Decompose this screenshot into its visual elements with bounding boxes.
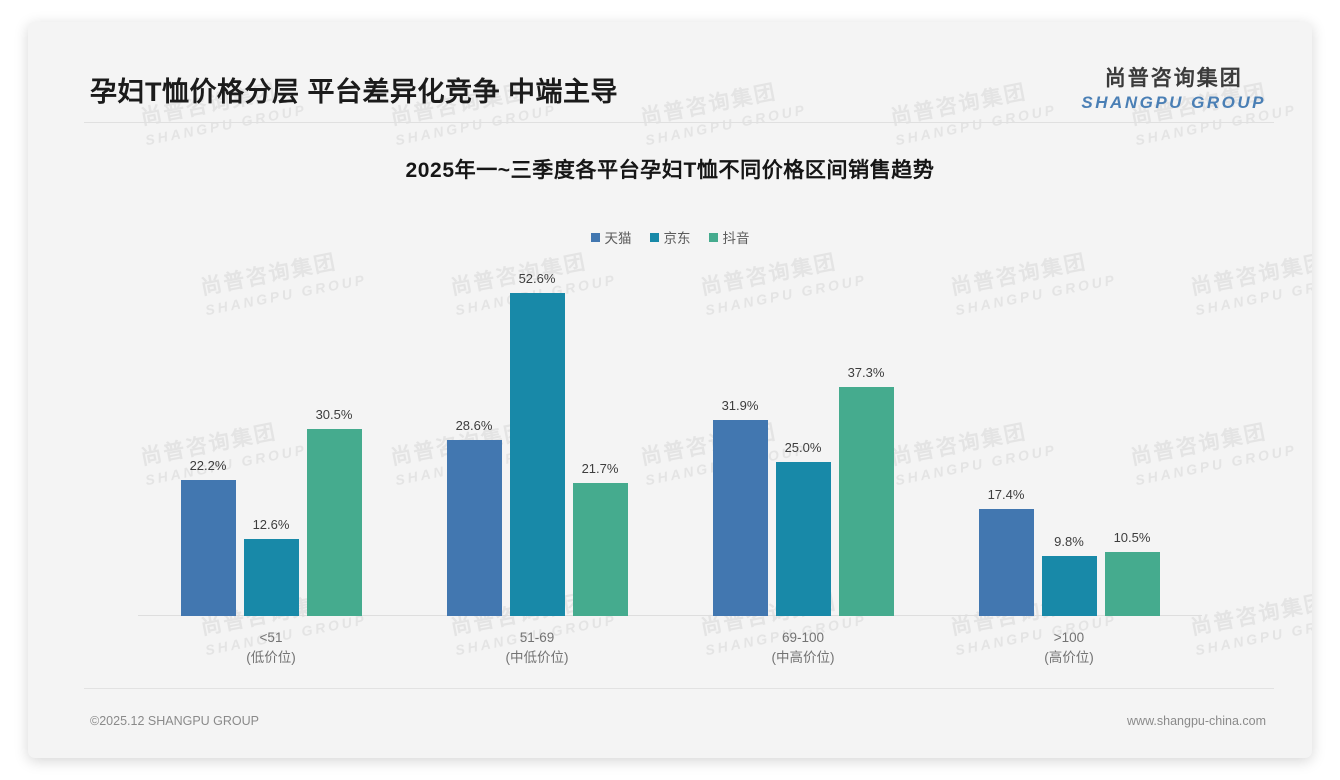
bar-value-label: 10.5% [1114, 530, 1151, 545]
bar-value-label: 52.6% [519, 271, 556, 286]
bar[interactable] [1105, 552, 1160, 617]
x-axis-category-sublabel: (高价位) [1044, 648, 1094, 668]
footer-website: www.shangpu-china.com [1127, 714, 1266, 728]
x-axis-category-label: 69-100(中高价位) [772, 628, 835, 667]
bar-column[interactable]: 21.7% [573, 272, 628, 616]
bar[interactable] [776, 462, 831, 616]
x-axis-category-name: 69-100 [772, 628, 835, 648]
legend-item-1[interactable]: 京东 [650, 227, 691, 247]
bar[interactable] [1042, 556, 1097, 616]
header-divider [84, 122, 1274, 123]
chart-legend: 天猫京东抖音 [28, 227, 1312, 247]
brand-logo-cn: 尚普咨询集团 [1081, 62, 1266, 92]
x-axis-category-sublabel: (中高价位) [772, 648, 835, 668]
bar-value-label: 37.3% [848, 365, 885, 380]
bar-value-label: 25.0% [785, 440, 822, 455]
bar-column[interactable]: 22.2% [181, 272, 236, 616]
slide-card: 尚普咨询集团SHANGPU GROUP尚普咨询集团SHANGPU GROUP尚普… [28, 22, 1312, 758]
bar-value-label: 31.9% [722, 398, 759, 413]
bar-column[interactable]: 30.5% [307, 272, 362, 616]
x-axis-category-label: <51(低价位) [246, 628, 296, 667]
bar-value-label: 12.6% [253, 517, 290, 532]
bar-value-label: 21.7% [582, 461, 619, 476]
x-axis-category-label: >100(高价位) [1044, 628, 1094, 667]
legend-item-2[interactable]: 抖音 [709, 227, 750, 247]
bar-value-label: 28.6% [456, 418, 493, 433]
page-title: 孕妇T恤价格分层 平台差异化竞争 中端主导 [90, 70, 618, 109]
brand-logo: 尚普咨询集团 SHANGPU GROUP [1081, 62, 1266, 113]
bar[interactable] [244, 539, 299, 616]
bar-column[interactable]: 10.5% [1105, 272, 1160, 616]
bar-column[interactable]: 17.4% [979, 272, 1034, 616]
x-axis-category-sublabel: (中低价位) [506, 648, 569, 668]
bar-group: 31.9%25.0%37.3%69-100(中高价位) [670, 272, 936, 616]
bar[interactable] [181, 480, 236, 616]
bar-group: 17.4%9.8%10.5%>100(高价位) [936, 272, 1202, 616]
bar-value-label: 30.5% [316, 407, 353, 422]
chart-area: 2025年一~三季度各平台孕妇T恤不同价格区间销售趋势 天猫京东抖音 22.2%… [28, 122, 1312, 688]
x-axis-category-sublabel: (低价位) [246, 648, 296, 668]
bar[interactable] [839, 387, 894, 616]
bar-value-label: 17.4% [988, 487, 1025, 502]
legend-label: 天猫 [605, 227, 632, 247]
bar-column[interactable]: 28.6% [447, 272, 502, 616]
bar-column[interactable]: 52.6% [510, 272, 565, 616]
bar-group: 28.6%52.6%21.7%51-69(中低价位) [404, 272, 670, 616]
footer-divider [84, 688, 1274, 689]
legend-item-0[interactable]: 天猫 [591, 227, 632, 247]
bar[interactable] [510, 293, 565, 616]
footer-copyright: ©2025.12 SHANGPU GROUP [90, 714, 259, 728]
bar-column[interactable]: 9.8% [1042, 272, 1097, 616]
chart-title: 2025年一~三季度各平台孕妇T恤不同价格区间销售趋势 [28, 154, 1312, 184]
brand-logo-en: SHANGPU GROUP [1081, 93, 1266, 113]
bar-chart-plot: 22.2%12.6%30.5%<51(低价位)28.6%52.6%21.7%51… [138, 272, 1202, 616]
bar[interactable] [447, 440, 502, 616]
bar-group: 22.2%12.6%30.5%<51(低价位) [138, 272, 404, 616]
slide-header: 孕妇T恤价格分层 平台差异化竞争 中端主导 尚普咨询集团 SHANGPU GRO… [28, 22, 1312, 122]
x-axis-category-label: 51-69(中低价位) [506, 628, 569, 667]
legend-swatch-icon [650, 233, 659, 242]
slide-footer: ©2025.12 SHANGPU GROUP www.shangpu-china… [28, 688, 1312, 758]
bar[interactable] [307, 429, 362, 616]
bar-column[interactable]: 25.0% [776, 272, 831, 616]
bar-value-label: 9.8% [1054, 534, 1084, 549]
bar-column[interactable]: 31.9% [713, 272, 768, 616]
bar-column[interactable]: 37.3% [839, 272, 894, 616]
legend-swatch-icon [591, 233, 600, 242]
x-axis-category-name: >100 [1044, 628, 1094, 648]
legend-swatch-icon [709, 233, 718, 242]
bar-column[interactable]: 12.6% [244, 272, 299, 616]
bar-value-label: 22.2% [190, 458, 227, 473]
legend-label: 抖音 [723, 227, 750, 247]
legend-label: 京东 [664, 227, 691, 247]
x-axis-category-name: <51 [246, 628, 296, 648]
bar[interactable] [573, 483, 628, 616]
bar[interactable] [979, 509, 1034, 616]
x-axis-category-name: 51-69 [506, 628, 569, 648]
bar[interactable] [713, 420, 768, 616]
